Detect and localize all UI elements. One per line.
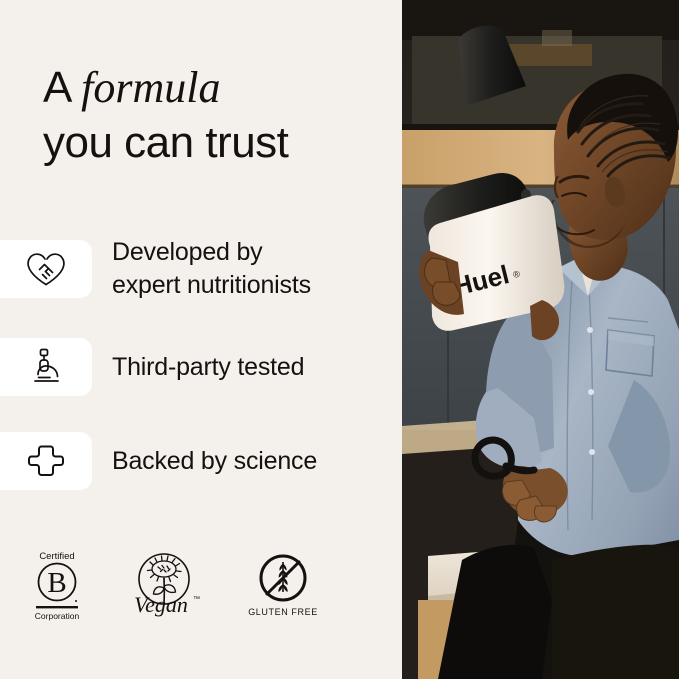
b-corp-badge: Certified B Corporation	[30, 548, 84, 622]
medical-cross-icon	[28, 443, 64, 479]
lifestyle-photo: Huel ®	[402, 0, 679, 679]
page-title: A formula you can trust	[43, 60, 393, 171]
b-corp-bottom-text: Corporation	[35, 611, 80, 621]
headline-line-1: A formula	[43, 60, 393, 115]
promo-page: A formula you can trust	[0, 0, 679, 679]
feature-row-developed-by-expert-nutritionists: Developed by expert nutritionists	[0, 236, 402, 302]
vegan-badge: Vegan ™	[131, 548, 201, 620]
gluten-free-badge: GLUTEN FREE	[248, 548, 318, 622]
headline-text-plain: A	[43, 63, 81, 112]
feature-row-backed-by-science: Backed by science	[0, 432, 402, 490]
b-corp-top-text: Certified	[39, 551, 74, 562]
b-corp-letter: B	[47, 567, 66, 599]
certification-badges: Certified B Corporation	[30, 548, 318, 622]
feature-icon-tile	[0, 432, 92, 490]
vegan-trademark: ™	[193, 596, 200, 603]
headline-text-italic: formula	[81, 63, 220, 112]
feature-row-third-party-tested: Third-party tested	[0, 338, 402, 396]
gluten-free-caption: GLUTEN FREE	[248, 607, 318, 617]
heart-handshake-icon	[26, 250, 66, 288]
feature-label-line-1: Backed by science	[112, 447, 317, 475]
headline-line-2: you can trust	[43, 115, 393, 170]
photo-illustration: Huel ®	[402, 0, 679, 679]
feature-label: Third-party tested	[112, 351, 304, 384]
feature-icon-tile	[0, 240, 92, 298]
left-content-panel: A formula you can trust	[0, 0, 402, 679]
feature-label: Backed by science	[112, 445, 317, 478]
microscope-icon	[28, 347, 64, 387]
vegan-word: Vegan	[134, 592, 188, 617]
feature-list: Developed by expert nutritionists	[0, 236, 402, 526]
feature-label-line-1: Developed by	[112, 238, 262, 266]
feature-label-line-1: Third-party tested	[112, 353, 304, 381]
feature-label: Developed by expert nutritionists	[112, 236, 311, 302]
feature-icon-tile	[0, 338, 92, 396]
feature-label-line-2: expert nutritionists	[112, 271, 311, 299]
